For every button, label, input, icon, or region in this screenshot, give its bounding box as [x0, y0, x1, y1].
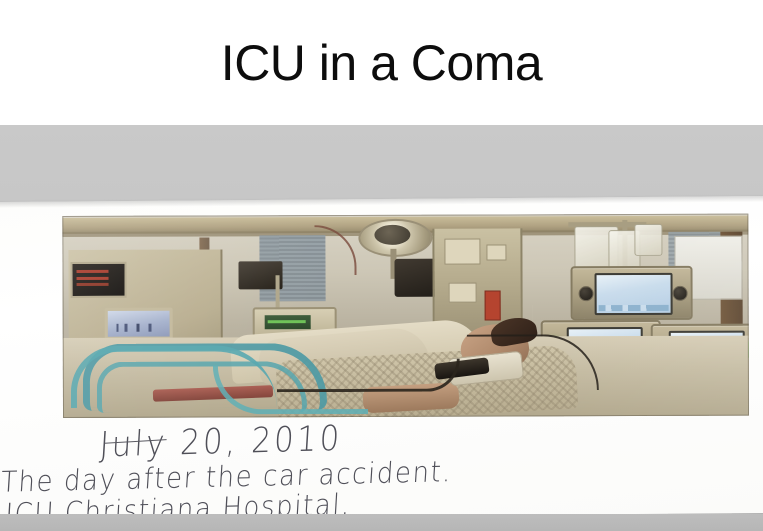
page-title: ICU in a Coma [0, 37, 763, 90]
infusion-pump-top [571, 266, 693, 320]
ventilator-waveform-display [105, 308, 173, 340]
slide-title-band: ICU in a Coma [0, 0, 763, 125]
wall-panel-box-3 [449, 283, 477, 303]
handwritten-caption: July 20, 2010 The day after the car acci… [0, 422, 763, 428]
wall-panel-oxygen-outlet [485, 290, 501, 320]
ventilator-alarm-display [70, 262, 126, 298]
wall-panel-box-2 [486, 244, 506, 260]
infusion-pump-top-screen [595, 273, 673, 315]
iv-bag-3 [634, 224, 662, 256]
vital-signs-screen [265, 315, 311, 329]
infusion-pump-top-knob-right [673, 286, 688, 301]
paper-sheet: July 20, 2010 The day after the car acci… [0, 196, 763, 519]
bottom-gray-strip [0, 514, 763, 531]
wall-panel-box-1 [444, 239, 480, 265]
monitoring-cable-a [277, 359, 460, 393]
infusion-pump-top-knob-left [579, 286, 594, 301]
surgical-light-lens [374, 225, 410, 245]
photo-scene [62, 214, 749, 418]
icu-photograph [62, 214, 749, 418]
presentation-slide: ICU in a Coma [0, 0, 763, 531]
